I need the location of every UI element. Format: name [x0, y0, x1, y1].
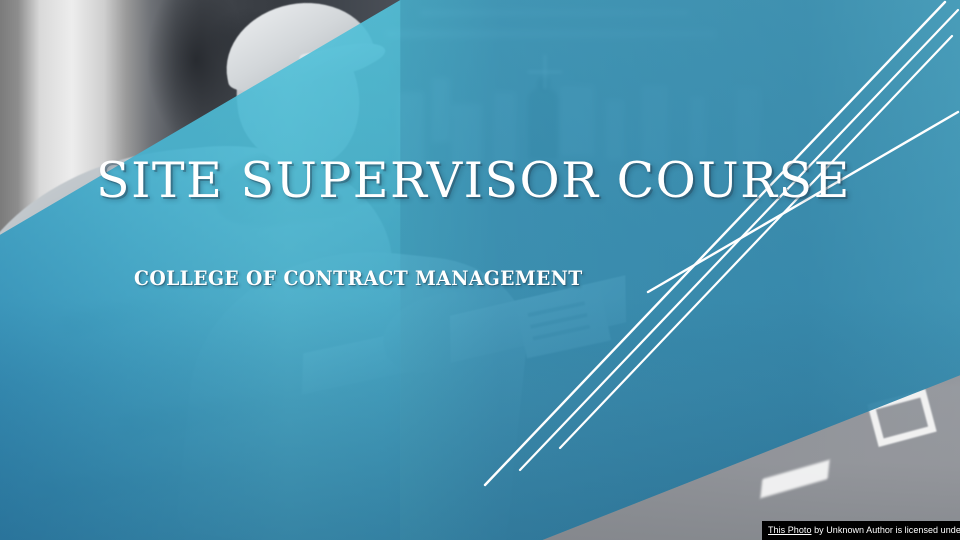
- this-photo-link[interactable]: This Photo: [768, 525, 812, 535]
- page-title: SITE SUPERVISOR COURSE: [96, 152, 851, 209]
- attribution-middle-text: by Unknown Author is licensed under: [812, 525, 960, 535]
- presentation-slide: SITE SUPERVISOR COURSE COLLEGE OF CONTRA…: [0, 0, 960, 540]
- slide-subtitle: COLLEGE OF CONTRACT MANAGEMENT: [134, 266, 583, 290]
- photo-attribution-bar: This Photo by Unknown Author is licensed…: [762, 521, 960, 540]
